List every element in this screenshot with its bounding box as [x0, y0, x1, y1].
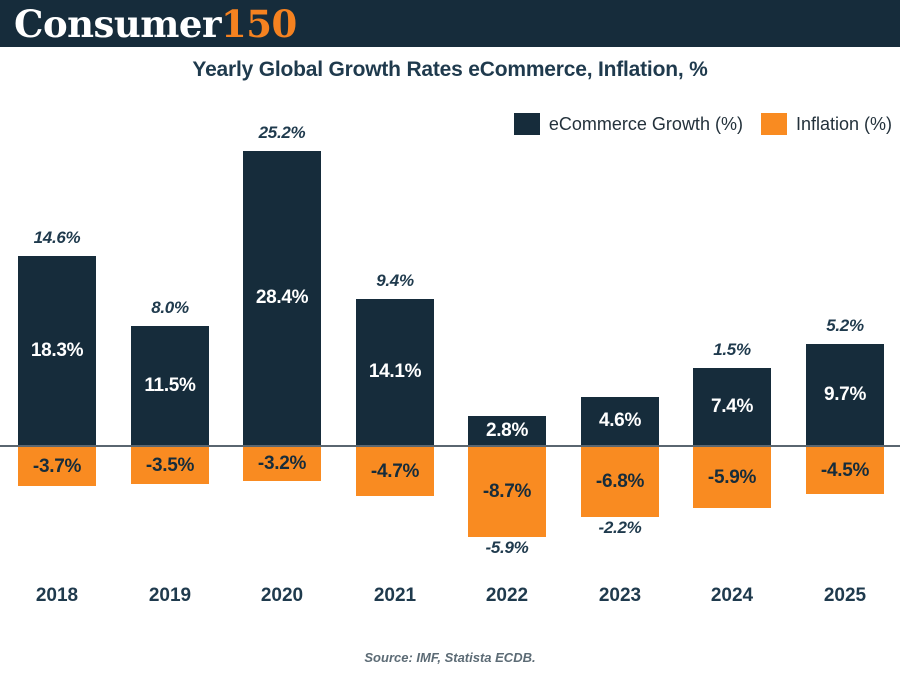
- bar-ecommerce-growth-2020[interactable]: 28.4%: [243, 151, 321, 445]
- outer-annotation-2022: -5.9%: [468, 538, 546, 558]
- bar-group-2023: 4.6%-6.8%-2.2%: [581, 0, 659, 675]
- bar-ecommerce-growth-2025[interactable]: 9.7%: [806, 344, 884, 445]
- bar-value-label-ecommerce-2022: 2.8%: [486, 420, 528, 442]
- outer-annotation-2023: -2.2%: [581, 518, 659, 538]
- bar-inflation-2022[interactable]: -8.7%: [468, 447, 546, 537]
- outer-annotation-2019: 8.0%: [131, 298, 209, 318]
- bar-value-label-ecommerce-2024: 7.4%: [711, 396, 753, 418]
- x-tick-2025: 2025: [806, 585, 884, 607]
- x-tick-2023: 2023: [581, 585, 659, 607]
- outer-annotation-2018: 14.6%: [18, 228, 96, 248]
- bar-inflation-2020[interactable]: -3.2%: [243, 447, 321, 481]
- x-tick-2021: 2021: [356, 585, 434, 607]
- bar-ecommerce-growth-2023[interactable]: 4.6%: [581, 397, 659, 445]
- x-tick-2020: 2020: [243, 585, 321, 607]
- bar-value-label-ecommerce-2018: 18.3%: [31, 340, 83, 362]
- outer-annotation-2025: 5.2%: [806, 316, 884, 336]
- bar-group-2018: 18.3%-3.7%14.6%: [18, 0, 96, 675]
- bar-inflation-2025[interactable]: -4.5%: [806, 447, 884, 494]
- bar-inflation-2021[interactable]: -4.7%: [356, 447, 434, 496]
- bar-group-2024: 7.4%-5.9%1.5%: [693, 0, 771, 675]
- chart-plot-area: 18.3%-3.7%14.6%11.5%-3.5%8.0%28.4%-3.2%2…: [0, 0, 900, 675]
- bar-value-label-inflation-2023: -6.8%: [596, 471, 644, 493]
- bar-group-2021: 14.1%-4.7%9.4%: [356, 0, 434, 675]
- bar-value-label-ecommerce-2021: 14.1%: [369, 361, 421, 383]
- bar-ecommerce-growth-2018[interactable]: 18.3%: [18, 256, 96, 445]
- bar-value-label-inflation-2019: -3.5%: [146, 455, 194, 477]
- bar-value-label-inflation-2025: -4.5%: [821, 460, 869, 482]
- x-tick-2022: 2022: [468, 585, 546, 607]
- bar-ecommerce-growth-2022[interactable]: 2.8%: [468, 416, 546, 445]
- bar-group-2025: 9.7%-4.5%5.2%: [806, 0, 884, 675]
- outer-annotation-2021: 9.4%: [356, 271, 434, 291]
- x-tick-2019: 2019: [131, 585, 209, 607]
- bar-value-label-inflation-2021: -4.7%: [371, 461, 419, 483]
- bar-group-2020: 28.4%-3.2%25.2%: [243, 0, 321, 675]
- bar-inflation-2019[interactable]: -3.5%: [131, 447, 209, 484]
- bar-value-label-inflation-2018: -3.7%: [33, 456, 81, 478]
- bar-value-label-inflation-2024: -5.9%: [708, 467, 756, 489]
- bar-group-2019: 11.5%-3.5%8.0%: [131, 0, 209, 675]
- bar-value-label-ecommerce-2020: 28.4%: [256, 287, 308, 309]
- x-tick-2024: 2024: [693, 585, 771, 607]
- outer-annotation-2020: 25.2%: [243, 123, 321, 143]
- bar-inflation-2023[interactable]: -6.8%: [581, 447, 659, 517]
- outer-annotation-2024: 1.5%: [693, 340, 771, 360]
- source-note: Source: IMF, Statista ECDB.: [0, 650, 900, 665]
- bar-value-label-ecommerce-2023: 4.6%: [599, 410, 641, 432]
- bar-inflation-2024[interactable]: -5.9%: [693, 447, 771, 508]
- bar-ecommerce-growth-2024[interactable]: 7.4%: [693, 368, 771, 445]
- bar-value-label-inflation-2022: -8.7%: [483, 481, 531, 503]
- bar-group-2022: 2.8%-8.7%-5.9%: [468, 0, 546, 675]
- bar-ecommerce-growth-2019[interactable]: 11.5%: [131, 326, 209, 445]
- bar-value-label-ecommerce-2025: 9.7%: [824, 384, 866, 406]
- bar-value-label-ecommerce-2019: 11.5%: [144, 375, 195, 397]
- bar-value-label-inflation-2020: -3.2%: [258, 453, 306, 475]
- x-tick-2018: 2018: [18, 585, 96, 607]
- bar-ecommerce-growth-2021[interactable]: 14.1%: [356, 299, 434, 445]
- bar-inflation-2018[interactable]: -3.7%: [18, 447, 96, 486]
